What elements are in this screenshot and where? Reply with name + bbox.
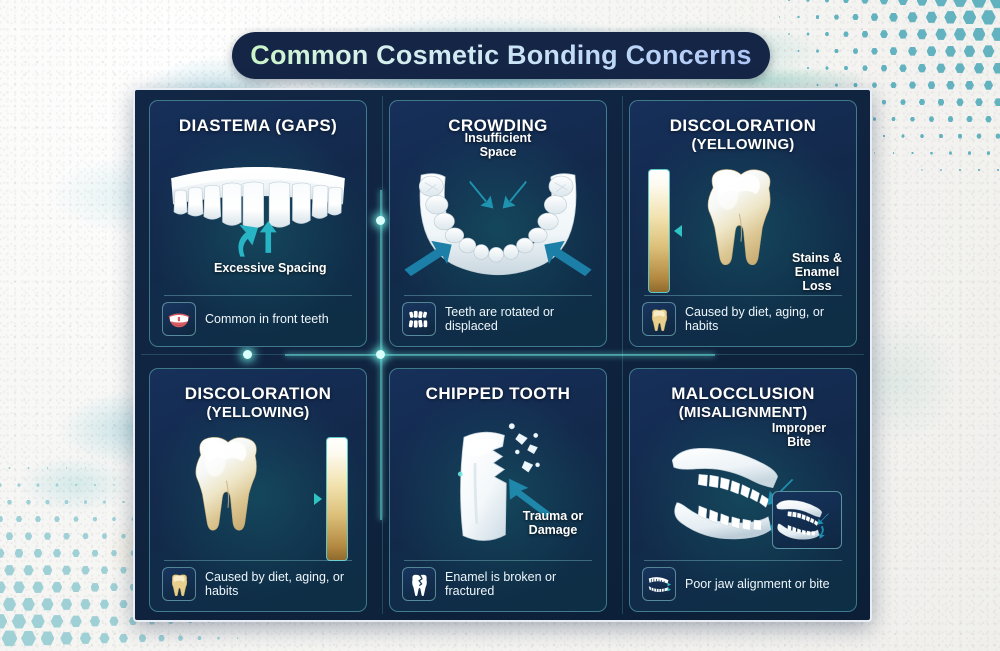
cracked-tooth-icon	[402, 567, 436, 601]
halftone-hexagon	[217, 637, 220, 640]
halftone-hexagon	[81, 566, 89, 575]
card-title: DISCOLORATION(YELLOWING)	[150, 385, 366, 421]
halftone-hexagon	[891, 117, 895, 121]
card-title-main: CHIPPED TOOTH	[426, 384, 571, 403]
halftone-hexagon	[973, 28, 986, 42]
gradient-bar-pointer	[674, 225, 682, 237]
infographic-canvas: Common Cosmetic Bonding Concerns DIASTEM…	[0, 0, 1000, 651]
halftone-hexagon	[0, 614, 7, 629]
halftone-hexagon	[927, 46, 937, 56]
halftone-hexagon	[70, 615, 82, 627]
halftone-hexagon	[93, 517, 98, 522]
halftone-hexagon	[939, 134, 943, 139]
halftone-hexagon	[956, 98, 963, 106]
yellow-tooth-icon	[649, 308, 670, 331]
card-footer: Caused by diet, aging, or habits	[642, 301, 846, 337]
card-title-main: MALOCCLUSION	[671, 384, 815, 403]
halftone-hexagon	[13, 581, 25, 593]
halftone-hexagon	[900, 99, 906, 105]
halftone-hexagon	[949, 151, 952, 154]
halftone-hexagon	[32, 581, 43, 593]
halftone-hexagon	[816, 49, 819, 52]
halftone-hexagon	[197, 636, 201, 640]
main-panel: DIASTEMA (GAPS) Excessive Spacing Common…	[133, 88, 872, 622]
halftone-hexagon	[997, 169, 999, 172]
halftone-hexagon	[80, 632, 91, 644]
halftone-hexagon	[17, 483, 21, 487]
halftone-hexagon	[41, 631, 55, 645]
halftone-hexagon	[991, 27, 1000, 41]
halftone-hexagon	[0, 548, 5, 558]
card-callout-label: Stains & Enamel Loss	[786, 251, 848, 293]
halftone-hexagon	[985, 116, 991, 123]
circuit-node	[376, 350, 385, 359]
halftone-hexagon	[968, 151, 972, 155]
halftone-hexagon	[27, 467, 29, 469]
halftone-hexagon	[825, 0, 830, 3]
halftone-hexagon	[871, 13, 879, 21]
halftone-hexagon	[22, 598, 35, 611]
halftone-hexagon	[110, 583, 118, 591]
halftone-hexagon	[779, 16, 780, 17]
glow-connector-horizontal	[285, 354, 715, 356]
halftone-hexagon	[994, 98, 1000, 106]
halftone-hexagon	[0, 581, 6, 593]
halftone-hexagon	[90, 616, 100, 627]
concern-card-1[interactable]: DIASTEMA (GAPS) Excessive Spacing Common…	[149, 100, 367, 347]
halftone-hexagon	[853, 83, 857, 87]
halftone-hexagon	[843, 31, 848, 37]
halftone-hexagon	[7, 500, 12, 505]
halftone-hexagon	[958, 134, 963, 139]
halftone-hexagon	[954, 28, 966, 41]
halftone-hexagon	[94, 484, 96, 486]
halftone-hexagon	[85, 467, 86, 468]
yellow-tooth-icon	[162, 567, 196, 601]
halftone-hexagon	[12, 614, 26, 629]
halftone-hexagon	[36, 483, 39, 487]
halftone-hexagon	[51, 615, 64, 628]
card-divider	[644, 560, 842, 561]
halftone-hexagon	[965, 81, 974, 90]
halftone-hexagon	[25, 532, 33, 540]
card-footer-text: Common in front teeth	[205, 312, 329, 326]
concern-card-6[interactable]: MALOCCLUSION(MISALIGNMENT) Improper B	[629, 368, 857, 612]
halftone-hexagon	[73, 516, 78, 522]
halftone-hexagon	[834, 14, 839, 19]
halftone-hexagon	[55, 483, 58, 486]
crowded-teeth-icon	[407, 309, 431, 330]
halftone-hexagon	[880, 30, 888, 38]
halftone-hexagon	[871, 48, 878, 55]
halftone-hexagon	[920, 134, 924, 138]
halftone-hexagon	[788, 0, 790, 1]
halftone-hexagon	[237, 637, 239, 639]
halftone-hexagon	[816, 15, 820, 19]
card-footer: Enamel is broken or fractured	[402, 566, 596, 602]
malocclusion-inset-panel	[772, 491, 842, 549]
halftone-hexagon	[797, 16, 800, 19]
yellowing-gradient-bar	[648, 169, 670, 293]
card-illustration	[164, 431, 292, 551]
halftone-hexagon	[91, 583, 100, 592]
halftone-hexagon	[825, 32, 829, 36]
halftone-hexagon	[843, 0, 849, 3]
halftone-hexagon	[938, 99, 945, 106]
halftone-hexagon	[862, 65, 868, 71]
card-footer-text: Poor jaw alignment or bite	[685, 577, 830, 591]
halftone-hexagon	[955, 63, 965, 73]
halftone-hexagon	[935, 28, 946, 40]
halftone-hexagon	[113, 484, 115, 486]
gradient-bar-pointer	[314, 493, 322, 505]
card-title-main: DISCOLORATION	[670, 116, 817, 135]
halftone-hexagon	[53, 549, 61, 558]
halftone-hexagon	[119, 600, 127, 609]
halftone-hexagon	[63, 533, 70, 540]
circuit-node	[376, 216, 385, 225]
halftone-hexagon	[45, 500, 50, 505]
halftone-hexagon	[993, 63, 1000, 74]
halftone-hexagon	[926, 11, 937, 23]
halftone-hexagon	[984, 80, 993, 90]
concern-card-2[interactable]: CROWDING Insuffici	[389, 100, 607, 347]
halftone-hexagon	[100, 599, 109, 609]
halftone-hexagon	[139, 634, 147, 642]
halftone-hexagon	[71, 582, 81, 592]
halftone-hexagon	[75, 484, 78, 487]
halftone-hexagon	[874, 152, 875, 153]
halftone-hexagon	[122, 501, 125, 504]
halftone-hexagon	[936, 63, 945, 73]
halftone-hexagon	[4, 565, 14, 576]
halftone-hexagon	[121, 534, 126, 539]
smiling-mouth-with-gap-icon	[167, 310, 191, 329]
halftone-hexagon	[907, 12, 917, 23]
card-subtitle: (YELLOWING)	[630, 137, 856, 153]
halftone-hexagon	[963, 10, 977, 24]
halftone-hexagon	[893, 152, 895, 154]
card-footer: Poor jaw alignment or bite	[642, 566, 846, 602]
halftone-hexagon	[917, 29, 927, 40]
halftone-hexagon	[944, 11, 956, 24]
halftone-hexagon	[953, 0, 966, 7]
card-divider	[164, 295, 352, 296]
card-footer-text: Caused by diet, aging, or habits	[205, 570, 356, 599]
crowded-teeth-icon	[402, 302, 436, 336]
halftone-hexagon	[62, 565, 71, 575]
halftone-hexagon	[3, 597, 16, 611]
lower-dental-arch-illustration	[398, 151, 598, 290]
halftone-hexagon	[908, 47, 917, 56]
halftone-hexagon	[976, 133, 981, 138]
halftone-hexagon	[6, 532, 14, 540]
halftone-hexagon	[0, 483, 2, 487]
halftone-hexagon	[959, 169, 961, 171]
card-footer-text: Teeth are rotated or displaced	[445, 305, 596, 334]
halftone-hexagon	[16, 516, 22, 523]
halftone-hexagon	[899, 64, 907, 72]
halftone-hexagon	[918, 64, 927, 73]
halftone-hexagon	[2, 630, 18, 647]
molar-tooth-illustration	[164, 431, 292, 551]
yellowing-gradient-bar	[326, 437, 348, 561]
card-footer: Teeth are rotated or displaced	[402, 301, 596, 337]
halftone-hexagon	[972, 0, 987, 8]
card-callout-label: Trauma or Damage	[514, 509, 592, 537]
card-title: MALOCCLUSION(MISALIGNMENT)	[630, 385, 856, 421]
halftone-hexagon	[990, 0, 1000, 9]
halftone-hexagon	[26, 500, 31, 505]
halftone-hexagon	[909, 81, 916, 88]
halftone-hexagon	[966, 116, 972, 123]
card-divider	[404, 560, 592, 561]
halftone-hexagon	[806, 32, 809, 35]
halftone-hexagon	[109, 616, 118, 626]
halftone-hexagon	[834, 49, 838, 54]
halftone-hexagon	[882, 100, 887, 105]
halftone-hexagon	[930, 152, 933, 155]
halftone-hexagon	[92, 550, 99, 557]
halftone-hexagon	[995, 133, 1000, 138]
yellow-tooth-icon	[642, 302, 676, 336]
card-divider	[644, 295, 842, 296]
card-title-main: DISCOLORATION	[185, 384, 332, 403]
halftone-hexagon	[898, 0, 908, 5]
card-illustration	[398, 151, 598, 290]
smiling-mouth-with-gap-icon	[162, 302, 196, 336]
card-title: DIASTEMA (GAPS)	[150, 117, 366, 135]
concern-card-3[interactable]: DISCOLORATION(YELLOWING) Stains & Enamel…	[629, 100, 857, 347]
halftone-hexagon	[975, 98, 983, 106]
halftone-hexagon	[44, 532, 51, 540]
halftone-hexagon	[978, 169, 980, 171]
halftone-hexagon	[43, 565, 53, 575]
malocclusion-inset-illustration	[773, 492, 841, 548]
halftone-hexagon	[987, 151, 991, 155]
halftone-hexagon	[981, 10, 995, 25]
halftone-hexagon	[945, 46, 956, 57]
halftone-hexagon	[54, 516, 60, 522]
halftone-hexagon	[889, 13, 898, 22]
halftone-hexagon	[15, 549, 24, 558]
card-footer: Common in front teeth	[162, 301, 356, 337]
halftone-hexagon	[72, 549, 80, 557]
halftone-hexagon	[928, 81, 936, 89]
halftone-hexagon	[82, 533, 88, 540]
halftone-hexagon	[917, 0, 928, 6]
halftone-hexagon	[983, 45, 995, 57]
card-footer: Caused by diet, aging, or habits	[162, 566, 356, 602]
halftone-hexagon	[21, 631, 36, 647]
halftone-hexagon	[921, 169, 922, 171]
yellow-tooth-icon	[169, 573, 190, 596]
halftone-hexagon	[34, 549, 43, 558]
halftone-hexagon	[60, 632, 73, 645]
halftone-hexagon	[84, 500, 88, 504]
cracked-tooth-icon	[409, 573, 430, 596]
title-banner: Common Cosmetic Bonding Concerns	[232, 32, 770, 79]
halftone-hexagon	[948, 116, 954, 122]
halftone-hexagon	[31, 614, 45, 628]
halftone-hexagon	[158, 635, 165, 642]
card-footer-text: Caused by diet, aging, or habits	[685, 305, 846, 334]
halftone-hexagon	[8, 467, 10, 469]
halftone-hexagon	[788, 33, 790, 35]
halftone-hexagon	[853, 48, 859, 54]
halftone-hexagon	[919, 99, 925, 106]
glow-connector-vertical	[380, 355, 382, 520]
halftone-hexagon	[844, 66, 848, 71]
halftone-hexagon	[35, 516, 41, 522]
card-title-main: DIASTEMA (GAPS)	[179, 116, 337, 135]
concern-card-4[interactable]: DISCOLORATION(YELLOWING) Caused by diet,…	[149, 368, 367, 612]
halftone-hexagon	[102, 533, 108, 539]
card-subtitle: (MISALIGNMENT)	[630, 405, 856, 421]
halftone-hexagon	[929, 116, 934, 122]
halftone-hexagon	[935, 0, 947, 7]
halftone-hexagon	[881, 65, 888, 72]
halftone-hexagon	[99, 633, 109, 644]
halftone-hexagon	[940, 169, 942, 171]
card-callout-label: Improper Bite	[760, 421, 838, 449]
halftone-hexagon	[873, 117, 876, 121]
halftone-hexagon	[797, 50, 799, 52]
card-title: DISCOLORATION(YELLOWING)	[630, 117, 856, 153]
halftone-hexagon	[862, 31, 869, 38]
halftone-hexagon	[120, 567, 127, 574]
card-callout-label: Insufficient Space	[390, 131, 606, 159]
halftone-hexagon	[66, 467, 68, 469]
halftone-hexagon	[47, 467, 49, 469]
card-divider	[404, 295, 592, 296]
halftone-hexagon	[880, 0, 888, 5]
card-subtitle: (YELLOWING)	[150, 405, 366, 421]
halftone-hexagon	[111, 550, 117, 556]
halftone-hexagon	[946, 81, 954, 90]
halftone-hexagon	[64, 500, 68, 504]
circuit-node	[243, 350, 252, 359]
halftone-hexagon	[964, 45, 975, 57]
halftone-hexagon	[890, 82, 896, 89]
halftone-hexagon	[835, 83, 838, 86]
halftone-hexagon	[890, 47, 898, 55]
halftone-hexagon	[0, 516, 3, 523]
halftone-hexagon	[825, 66, 828, 70]
halftone-hexagon	[61, 598, 72, 610]
halftone-hexagon	[52, 582, 63, 593]
halftone-hexagon	[41, 598, 53, 611]
halftone-hexagon	[911, 152, 913, 155]
halftone-hexagon	[872, 82, 877, 88]
card-title: CHIPPED TOOTH	[390, 385, 606, 403]
halftone-hexagon	[23, 565, 33, 576]
halftone-hexagon	[178, 635, 183, 641]
jaw-alignment-icon	[642, 567, 676, 601]
halftone-hexagon	[80, 599, 90, 610]
glow-connector-vertical	[380, 190, 382, 355]
jaw-alignment-icon	[647, 574, 671, 595]
halftone-hexagon	[974, 63, 984, 74]
halftone-hexagon	[112, 517, 116, 521]
halftone-hexagon	[103, 500, 106, 503]
card-divider	[164, 560, 352, 561]
card-footer-text: Enamel is broken or fractured	[445, 570, 596, 599]
halftone-hexagon	[807, 67, 809, 69]
halftone-hexagon	[910, 117, 915, 122]
halftone-hexagon	[861, 0, 868, 4]
halftone-hexagon	[852, 14, 858, 21]
card-callout-label: Excessive Spacing	[214, 261, 327, 275]
halftone-hexagon	[101, 566, 109, 574]
halftone-hexagon	[806, 0, 809, 2]
halftone-hexagon	[883, 135, 886, 138]
halftone-hexagon	[898, 29, 907, 38]
halftone-hexagon	[119, 634, 128, 643]
halftone-hexagon	[901, 134, 904, 138]
halftone-hexagon	[816, 84, 818, 86]
page-title: Common Cosmetic Bonding Concerns	[250, 40, 751, 71]
concern-card-5[interactable]: CHIPPED TOOTH Trauma or Damage Enamel is…	[389, 368, 607, 612]
